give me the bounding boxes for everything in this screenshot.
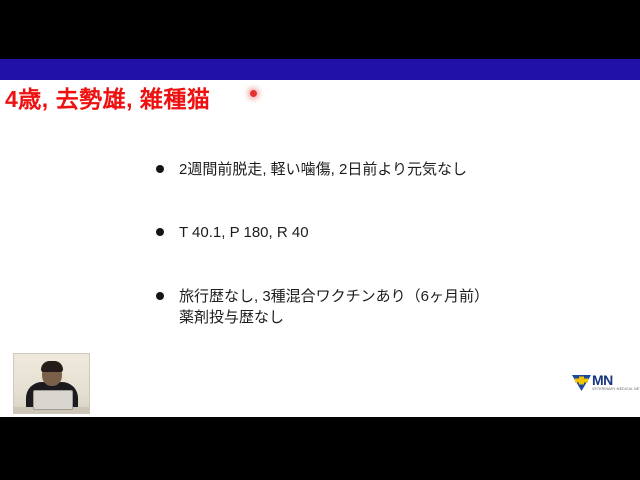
presentation-slide: 4歳, 去勢雄, 雑種猫 2週間前脱走, 軽い噛傷, 2日前より元気なし T 4…: [0, 59, 640, 417]
webcam-person-hair: [41, 361, 63, 372]
bullet-marker-icon: [156, 165, 164, 173]
bullet-marker-icon: [156, 292, 164, 300]
bullet-line: 薬剤投与歴なし: [179, 307, 625, 328]
logo-subtext: VETERINARY MEDICAL NETWORK: [592, 387, 640, 391]
organization-logo: MN VETERINARY MEDICAL NETWORK: [572, 372, 630, 398]
webcam-laptop: [33, 390, 73, 410]
bullet-item: 2週間前脱走, 軽い噛傷, 2日前より元気なし: [155, 159, 625, 180]
slide-bullet-list: 2週間前脱走, 軽い噛傷, 2日前より元気なし T 40.1, P 180, R…: [155, 159, 625, 328]
bullet-line: 2週間前脱走, 軽い噛傷, 2日前より元気なし: [179, 159, 625, 180]
video-player-viewport: 4歳, 去勢雄, 雑種猫 2週間前脱走, 軽い噛傷, 2日前より元気なし T 4…: [0, 0, 640, 480]
bullet-item: T 40.1, P 180, R 40: [155, 222, 625, 243]
bullet-line: 旅行歴なし, 3種混合ワクチンあり（6ヶ月前）: [179, 286, 625, 307]
logo-wordmark: MN: [592, 373, 613, 387]
presenter-webcam-thumbnail[interactable]: [13, 353, 90, 414]
slide-header-band: [0, 59, 640, 80]
bullet-marker-icon: [156, 228, 164, 236]
slide-title: 4歳, 去勢雄, 雑種猫: [5, 86, 210, 112]
bullet-line: T 40.1, P 180, R 40: [179, 222, 625, 243]
bullet-item: 旅行歴なし, 3種混合ワクチンあり（6ヶ月前） 薬剤投与歴なし: [155, 286, 625, 329]
vmn-triangle-cross-icon: [572, 374, 591, 391]
letterbox-bar-bottom: [0, 417, 640, 480]
letterbox-bar-top: [0, 0, 640, 59]
laser-pointer-dot: [250, 90, 257, 97]
